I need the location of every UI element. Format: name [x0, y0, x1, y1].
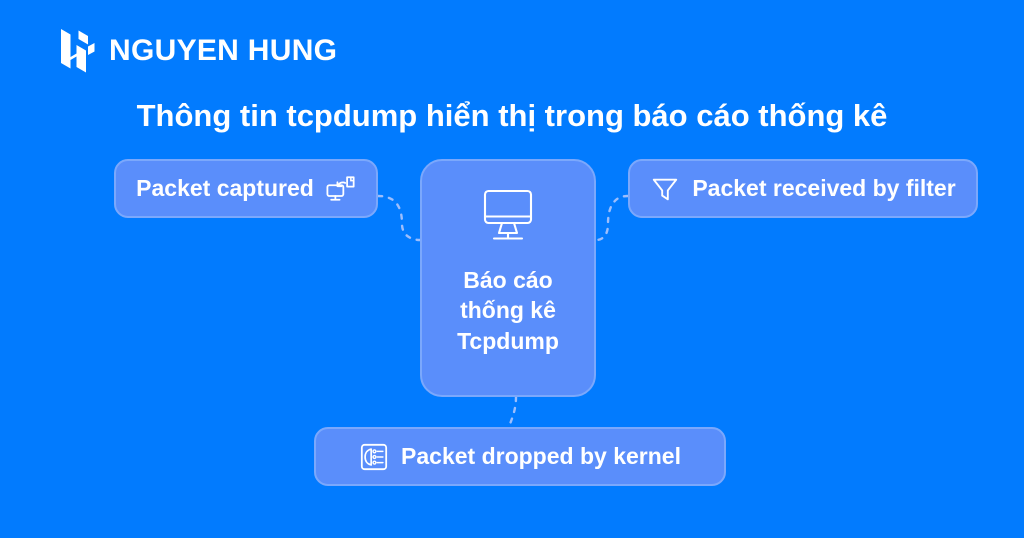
node-packet-captured-label: Packet captured: [136, 177, 314, 200]
connector-hub-to-dropped: [509, 397, 516, 427]
kernel-chip-icon: [359, 442, 389, 472]
connector-hub-to-filter: [596, 196, 628, 240]
hub-title-line-1: Báo cáo: [457, 265, 559, 295]
hub-tcpdump-report[interactable]: Báo cáo thống kê Tcpdump: [420, 159, 596, 397]
node-packet-received-by-filter[interactable]: Packet received by filter: [628, 159, 978, 218]
brand-name: NGUYEN HUNG: [109, 36, 337, 66]
slide-canvas: NGUYEN HUNG Thông tin tcpdump hiển thị t…: [0, 0, 1024, 538]
hub-title-line-2: thống kê: [457, 295, 559, 325]
page-title: Thông tin tcpdump hiển thị trong báo cáo…: [0, 96, 1024, 136]
monitor-capture-icon: [326, 174, 356, 204]
funnel-filter-icon: [650, 174, 680, 204]
node-packet-dropped-by-kernel[interactable]: Packet dropped by kernel: [314, 427, 726, 486]
node-packet-captured[interactable]: Packet captured: [114, 159, 378, 218]
node-packet-received-by-filter-label: Packet received by filter: [692, 177, 955, 200]
nguyen-hung-n-monogram-icon: [60, 26, 96, 76]
hub-title: Báo cáo thống kê Tcpdump: [457, 265, 559, 356]
desktop-monitor-icon: [479, 189, 537, 241]
connector-captured-to-hub: [378, 196, 420, 240]
node-packet-dropped-by-kernel-label: Packet dropped by kernel: [401, 445, 681, 468]
hub-title-line-3: Tcpdump: [457, 326, 559, 356]
brand-logo: NGUYEN HUNG: [60, 26, 337, 76]
